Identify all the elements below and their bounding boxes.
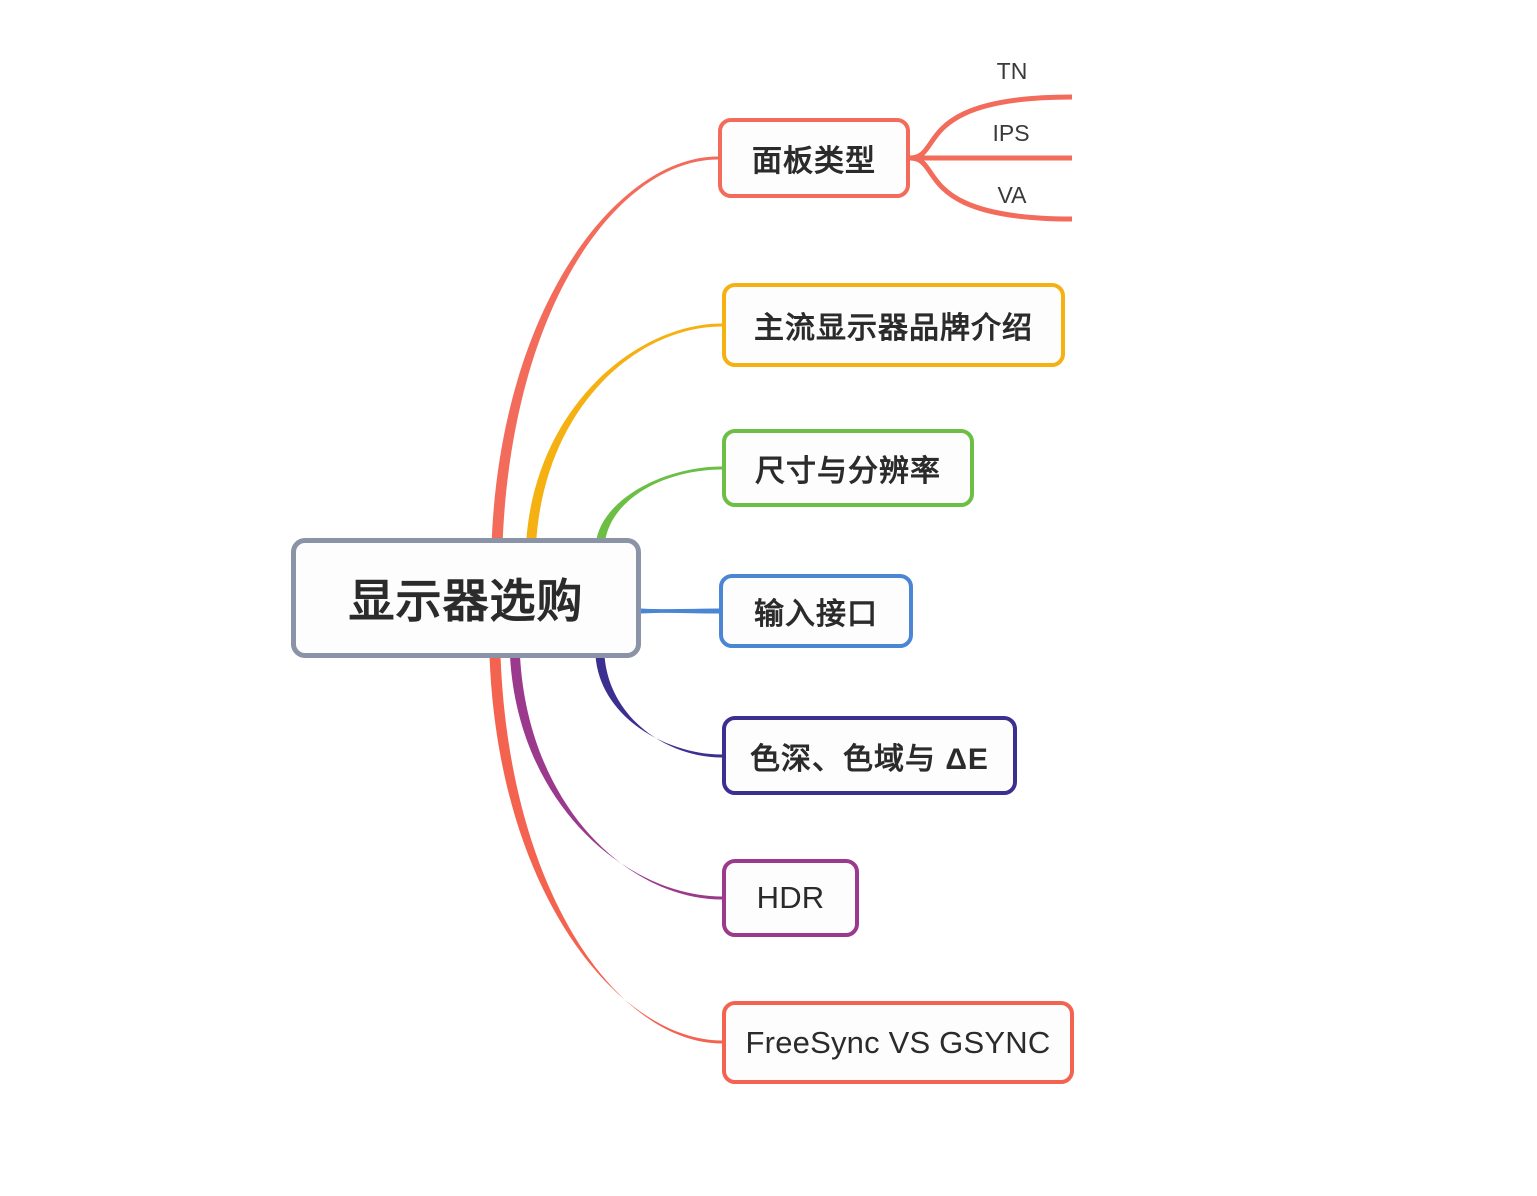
- connector-freesync-gsync: [490, 656, 723, 1044]
- branch-node-panel-type[interactable]: 面板类型: [718, 118, 910, 198]
- connector-tn: [910, 97, 1072, 158]
- leaf-label-tn[interactable]: TN: [997, 58, 1028, 85]
- branch-node-label-size-resolution: 尺寸与分辨率: [755, 446, 941, 490]
- branch-node-label-freesync-gsync: FreeSync VS GSYNC: [746, 1025, 1051, 1061]
- branch-node-label-color-depth: 色深、色域与 ΔE: [750, 734, 989, 778]
- connector-size-resolution: [596, 467, 723, 546]
- branch-node-freesync-gsync[interactable]: FreeSync VS GSYNC: [722, 1001, 1074, 1084]
- root-node-label: 显示器选购: [349, 565, 584, 631]
- root-node[interactable]: 显示器选购: [291, 538, 641, 658]
- mindmap-canvas: 显示器选购面板类型TNIPSVA主流显示器品牌介绍尺寸与分辨率输入接口色深、色域…: [0, 0, 1537, 1196]
- connector-va: [910, 158, 1072, 219]
- branch-node-color-depth[interactable]: 色深、色域与 ΔE: [722, 716, 1017, 795]
- connector-input-interface: [641, 609, 719, 614]
- branch-node-label-panel-type: 面板类型: [752, 136, 876, 180]
- connector-brands: [526, 324, 722, 546]
- branch-node-input-interface[interactable]: 输入接口: [719, 574, 913, 648]
- branch-node-label-hdr: HDR: [757, 880, 825, 916]
- branch-node-label-brands: 主流显示器品牌介绍: [754, 303, 1033, 347]
- connector-color-depth: [596, 656, 723, 758]
- branch-node-brands[interactable]: 主流显示器品牌介绍: [722, 283, 1065, 367]
- branch-node-hdr[interactable]: HDR: [722, 859, 859, 937]
- leaf-label-va[interactable]: VA: [998, 182, 1027, 209]
- leaf-label-ips[interactable]: IPS: [992, 120, 1029, 147]
- connector-hdr: [510, 656, 722, 900]
- branch-node-label-input-interface: 输入接口: [754, 589, 878, 633]
- branch-node-size-resolution[interactable]: 尺寸与分辨率: [722, 429, 974, 507]
- connector-panel-type: [492, 157, 719, 546]
